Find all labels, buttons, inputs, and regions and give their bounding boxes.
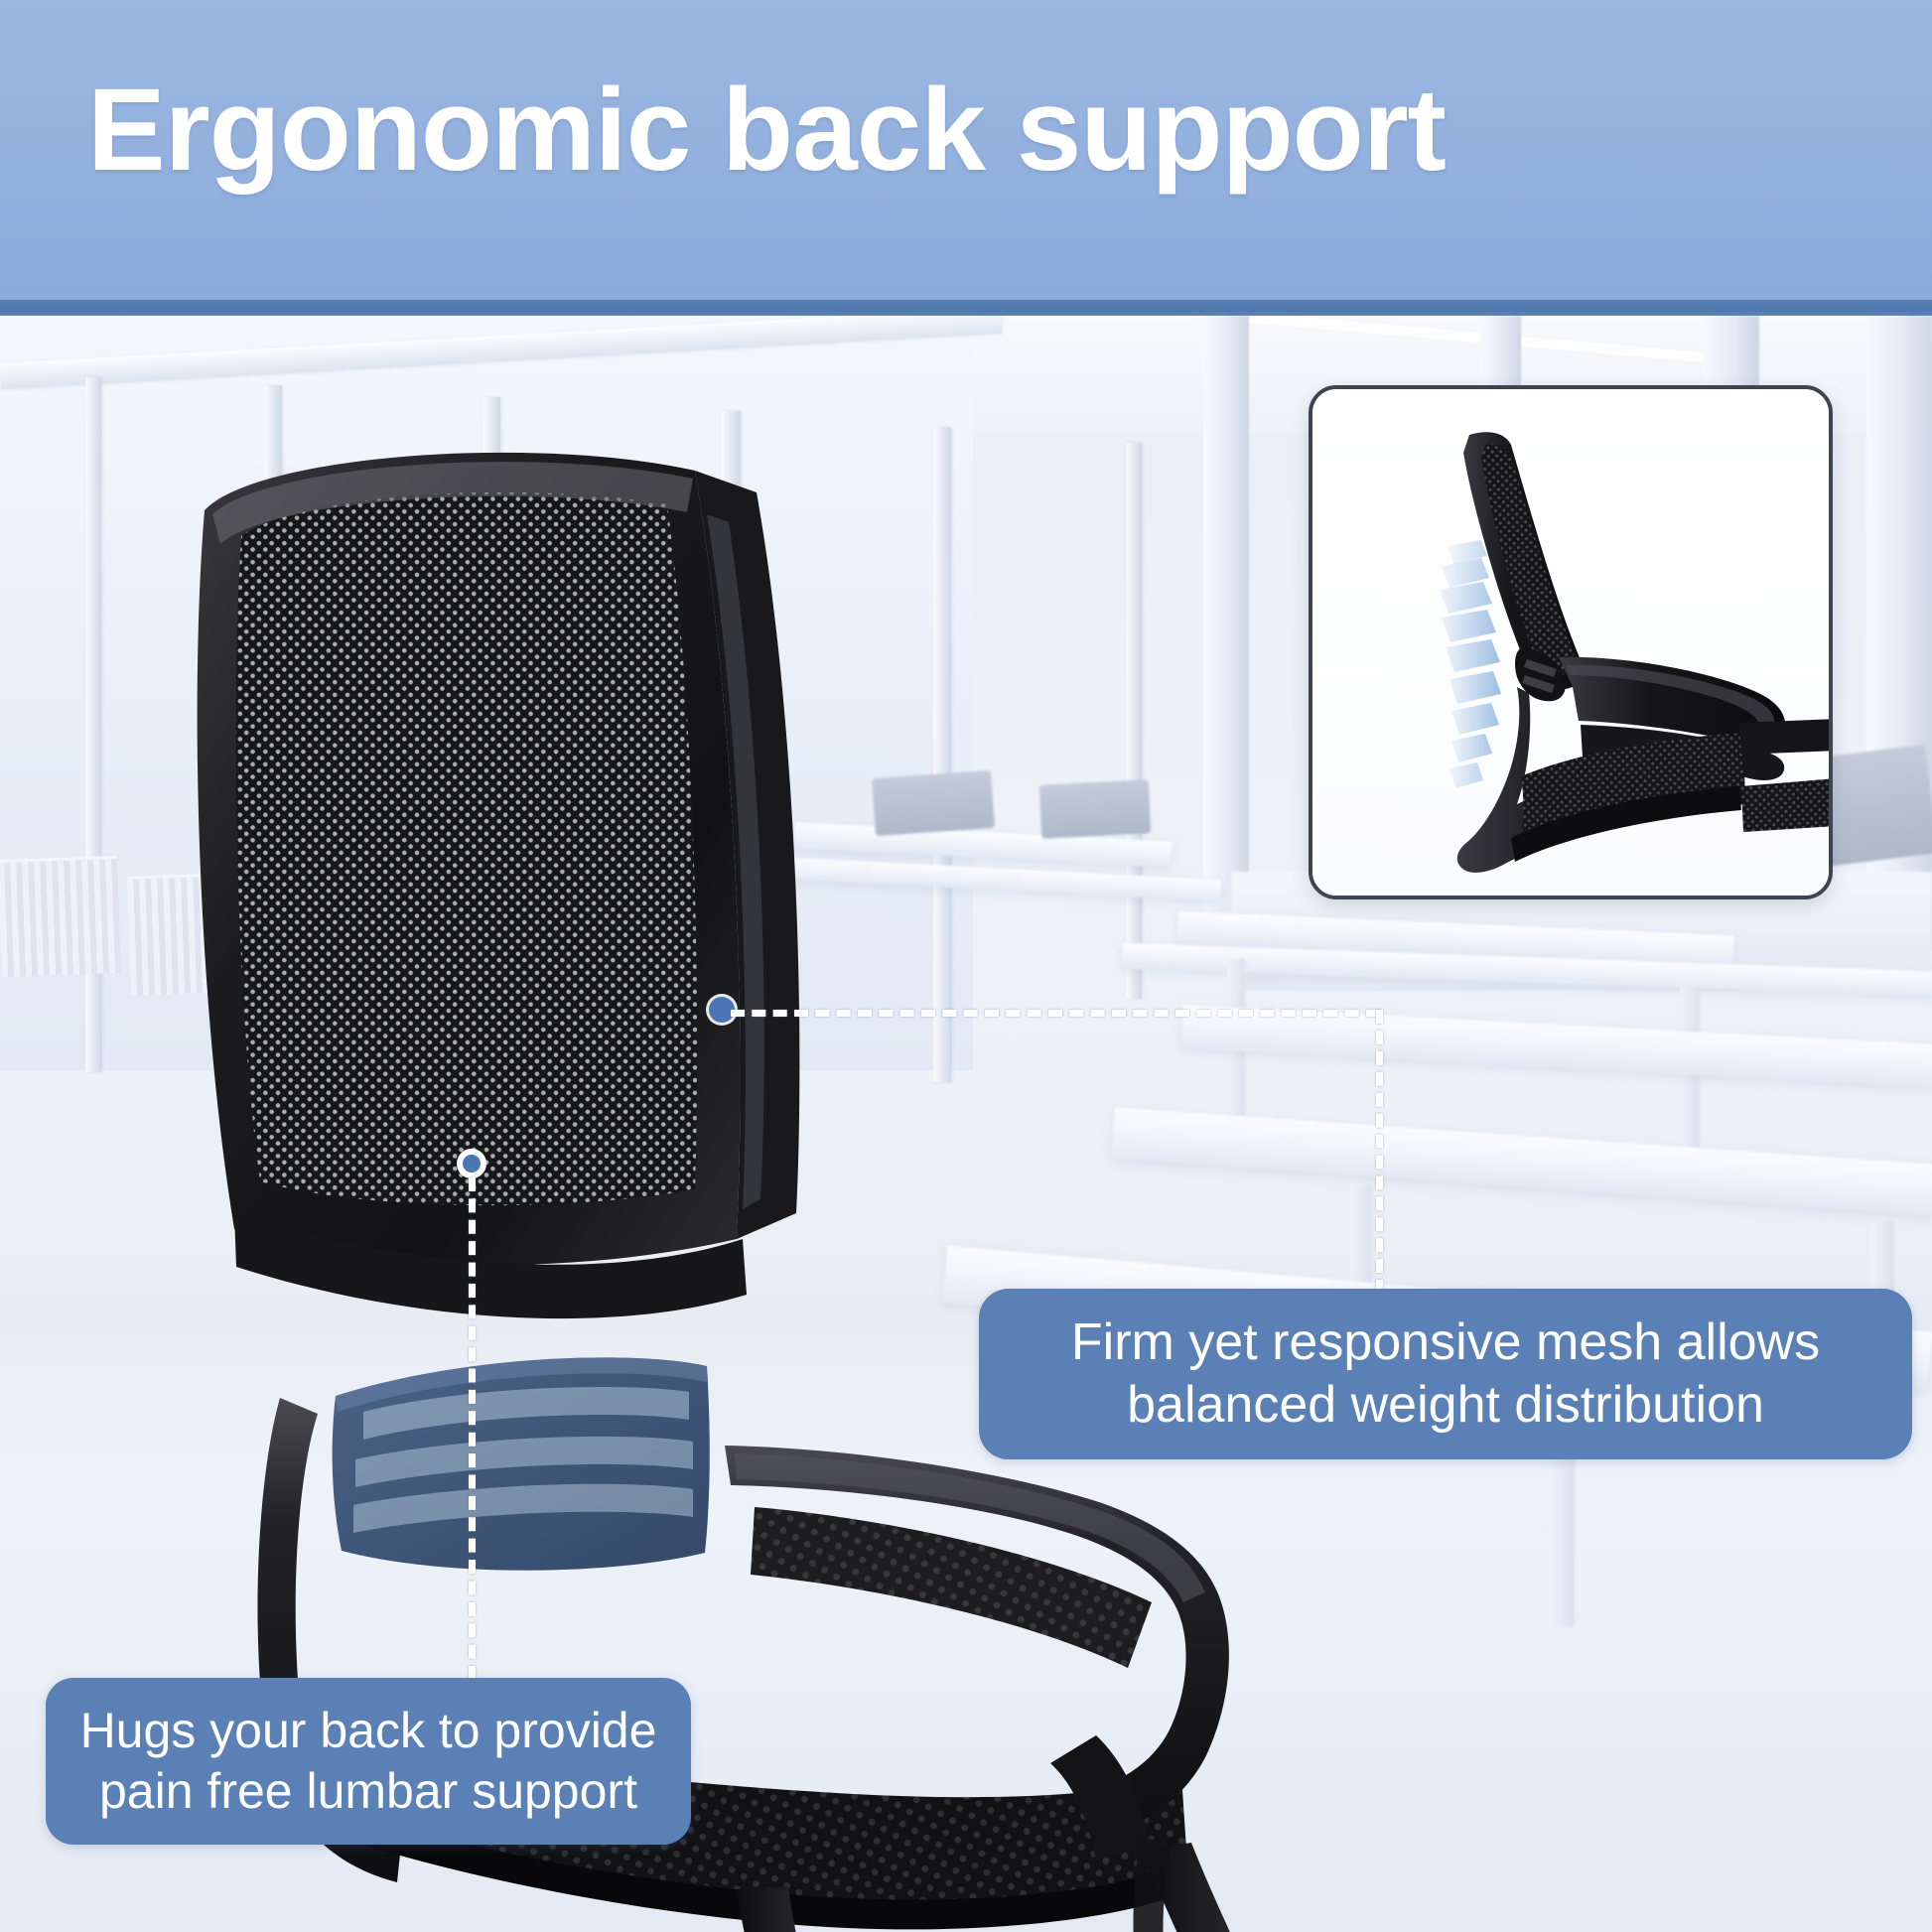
- inset-seat-extension: [1741, 778, 1833, 832]
- page-title: Ergonomic back support: [87, 71, 1446, 189]
- product-feature-image: Ergonomic back support: [0, 0, 1932, 1932]
- chair-leg-right: [1142, 1843, 1394, 1932]
- mesh-connector-horizontal: [731, 1010, 1380, 1017]
- lumbar-connector-vertical: [469, 1177, 476, 1680]
- callout-lumbar-line1: Hugs your back to provide: [80, 1701, 657, 1761]
- callout-mesh-line2: balanced weight distribution: [1071, 1374, 1820, 1437]
- header-banner: Ergonomic back support: [0, 0, 1932, 300]
- inset-frame-extension: [1739, 719, 1833, 755]
- header-divider-rule: [0, 300, 1932, 316]
- inset-side-view-illustration: [1312, 389, 1833, 899]
- callout-lumbar[interactable]: Hugs your back to provide pain free lumb…: [46, 1678, 691, 1845]
- callout-lumbar-line2: pain free lumbar support: [80, 1761, 657, 1822]
- inset-detail-panel: [1309, 385, 1833, 899]
- mesh-connector-vertical: [1376, 1010, 1383, 1294]
- lumbar-annotation-dot: [457, 1149, 486, 1178]
- callout-mesh[interactable]: Firm yet responsive mesh allows balanced…: [979, 1289, 1912, 1459]
- lumbar-support-panel: [333, 1357, 710, 1570]
- callout-mesh-line1: Firm yet responsive mesh allows: [1071, 1311, 1820, 1374]
- chair-armrest-right: [725, 1446, 1229, 1837]
